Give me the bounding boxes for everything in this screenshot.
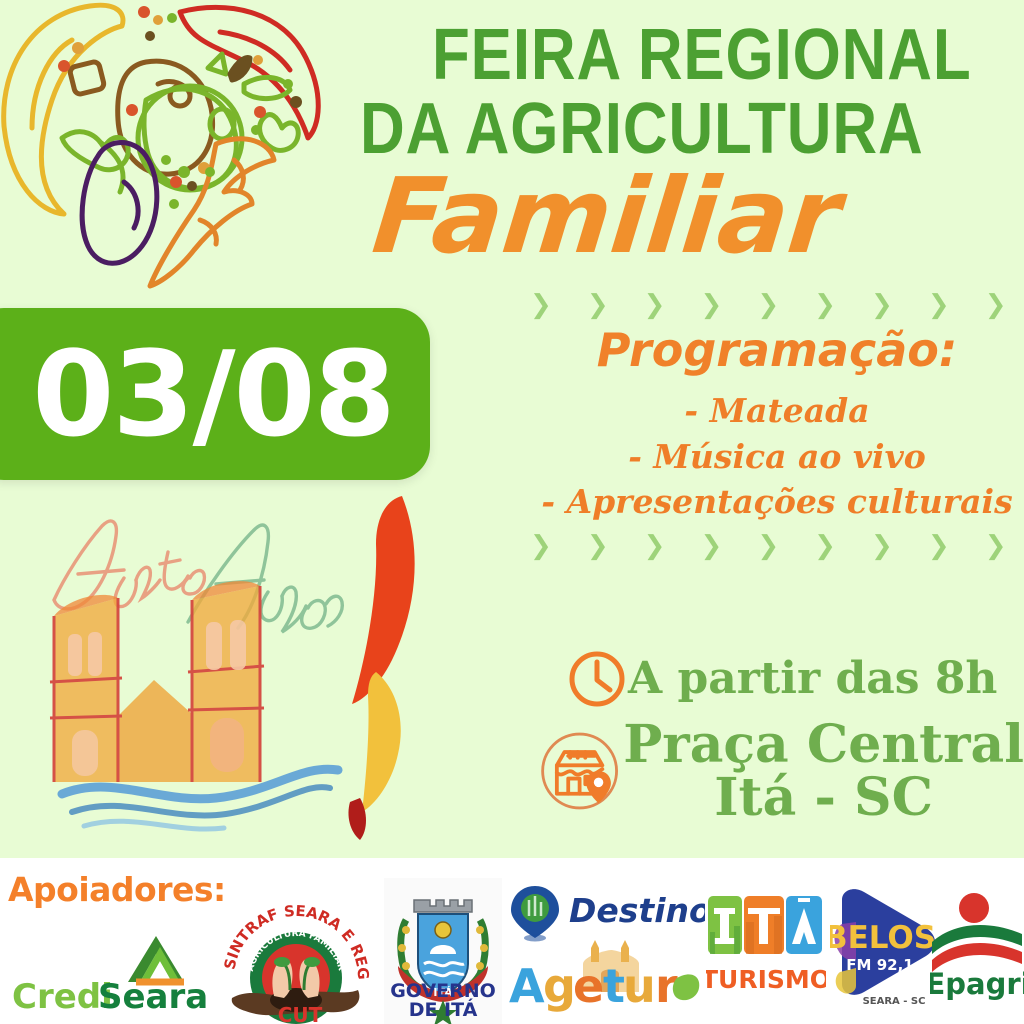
title-line-1: FEIRA REGIONAL — [432, 22, 972, 88]
svg-text:BELOS: BELOS — [830, 920, 936, 956]
date-badge: 03/08 — [0, 308, 430, 480]
event-place-row: Praça Central Itá - SC — [530, 718, 1024, 824]
program-block: ❯ ❯ ❯ ❯ ❯ ❯ ❯ ❯ ❯ ❯ ❯ ❯ ❯ ❯ ❯ ❯ Programa… — [530, 292, 1024, 561]
svg-text:CUT: CUT — [278, 1003, 323, 1024]
sponsor-bar: Apoiadores: Credi Seara — [0, 858, 1024, 1024]
svg-text:e: e — [573, 959, 604, 1013]
destino-ita-text: Destino Itá — [569, 891, 705, 930]
chevron-divider-top-icon: ❯ ❯ ❯ ❯ ❯ ❯ ❯ ❯ ❯ ❯ ❯ ❯ ❯ ❯ ❯ ❯ — [530, 292, 1024, 320]
clock-icon — [566, 648, 628, 710]
svg-text:FM 92,1: FM 92,1 — [846, 956, 913, 974]
program-heading: Programação: — [530, 326, 1024, 374]
event-time-text: A partir das 8h — [628, 657, 997, 702]
ita-turismo-word: TURISMO — [706, 965, 826, 994]
sintraf-logo: SINTRAF SEARA E REGIÃO AGRICULTURA FAMIL… — [216, 886, 376, 1024]
produce-illustration — [0, 0, 346, 292]
agetur-logo: A g e t u r — [505, 936, 705, 1014]
governo-de-ita-logo: ITÁ x GOVERNO DE ITÁ — [384, 878, 502, 1024]
market-stall-location-icon — [536, 725, 623, 817]
svg-text:g: g — [543, 959, 576, 1013]
title-line-2: DA AGRICULTURA — [360, 96, 924, 162]
program-item: - Mateada — [530, 388, 1024, 434]
svg-text:SEARA - SC: SEARA - SC — [863, 996, 926, 1007]
poster-canvas: FEIRA REGIONAL DA AGRICULTURA Familiar 0… — [0, 0, 1024, 1024]
event-time-row: A partir das 8h — [530, 648, 1024, 710]
event-info-block: A partir das 8h Praça Central I — [530, 648, 1024, 824]
poster-headline: FEIRA REGIONAL DA AGRICULTURA Familiar — [352, 14, 1024, 286]
belos-fm-logo: BELOS FM 92,1 SEARA - SC — [830, 884, 946, 1008]
destino-ita-logo: Destino Itá — [505, 880, 705, 942]
svg-text:Epagri: Epagri — [930, 967, 1024, 1000]
governo-line-2: DE ITÁ — [384, 1001, 502, 1020]
svg-text:t: t — [603, 959, 625, 1013]
svg-text:u: u — [623, 959, 656, 1013]
program-item: - Apresentações culturais — [530, 479, 1024, 525]
program-item: - Música ao vivo — [530, 434, 1024, 480]
event-place-line-1: Praça Central — [623, 718, 1024, 771]
chevron-divider-bottom-icon: ❯ ❯ ❯ ❯ ❯ ❯ ❯ ❯ ❯ ❯ ❯ ❯ ❯ ❯ ❯ ❯ — [530, 533, 1024, 561]
arte-agro-logo — [20, 482, 440, 844]
ita-turismo-logo: TURISMO — [706, 892, 826, 1004]
epagri-logo: Epagri — [930, 888, 1024, 1000]
svg-text:A: A — [509, 959, 545, 1013]
date-value: 03/08 — [6, 335, 394, 453]
crediseara-logo: Credi Seara — [10, 920, 220, 1012]
svg-text:Seara: Seara — [98, 977, 208, 1012]
event-place-text: Praça Central Itá - SC — [623, 718, 1024, 824]
title-script-familiar: Familiar — [369, 164, 846, 268]
sponsors-label: Apoiadores: — [8, 870, 226, 909]
event-place-line-2: Itá - SC — [623, 771, 1024, 824]
